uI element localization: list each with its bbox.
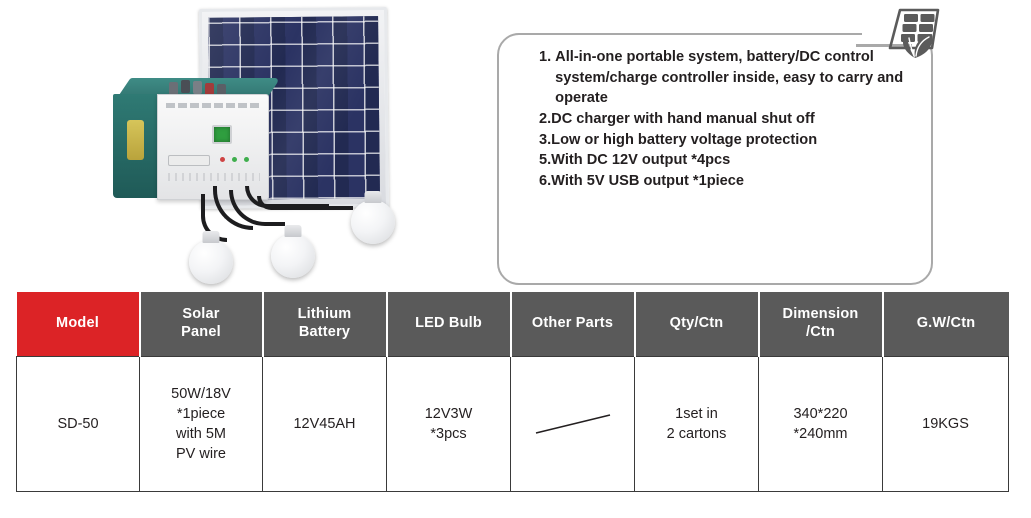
cell-qty-ctn: 1set in 2 cartons xyxy=(635,356,759,491)
led-bulb-2 xyxy=(271,234,315,278)
cell-other-parts xyxy=(511,356,635,491)
feature-item: 6. With 5V USB output *1piece xyxy=(539,171,917,192)
cell-model: SD-50 xyxy=(17,356,140,491)
solar-panel-leaf-icon xyxy=(882,4,948,60)
control-box-front-panel xyxy=(157,94,269,200)
table-body: SD-50 50W/18V *1piece with 5M PV wire 12… xyxy=(17,356,1009,491)
column-header-led-bulb: LED Bulb xyxy=(387,292,511,356)
diagonal-dash-icon xyxy=(530,411,616,437)
feature-number: 5. xyxy=(539,150,551,171)
cable-harness xyxy=(183,186,383,286)
column-header-other-parts: Other Parts xyxy=(511,292,635,356)
control-box-ports xyxy=(168,173,260,181)
table-header-row: Model Solar Panel Lithium Battery LED Bu… xyxy=(17,292,1009,356)
product-spec-page: 1. All-in-one portable system, battery/D… xyxy=(0,0,1031,518)
cell-solar-panel: 50W/18V *1piece with 5M PV wire xyxy=(140,356,263,491)
feature-list: 1. All-in-one portable system, battery/D… xyxy=(539,47,917,191)
table-row: SD-50 50W/18V *1piece with 5M PV wire 12… xyxy=(17,356,1009,491)
led-bulb-3 xyxy=(351,200,395,244)
column-header-gw-ctn: G.W/Ctn xyxy=(883,292,1009,356)
control-box-slot xyxy=(168,155,210,166)
feature-item: 1. All-in-one portable system, battery/D… xyxy=(539,47,917,109)
led-bulb-1 xyxy=(189,240,233,284)
feature-number: 1. xyxy=(539,47,551,109)
feature-text: DC charger with hand manual shut off xyxy=(551,109,917,130)
column-header-dimension-ctn: Dimension /Ctn xyxy=(759,292,883,356)
cell-dimension-ctn: 340*220 *240mm xyxy=(759,356,883,491)
table-header: Model Solar Panel Lithium Battery LED Bu… xyxy=(17,292,1009,356)
feature-number: 2. xyxy=(539,109,551,130)
feature-text: Low or high battery voltage protection xyxy=(551,130,917,151)
control-box-display xyxy=(212,125,232,144)
feature-text: With DC 12V output *4pcs xyxy=(551,150,917,171)
product-photo xyxy=(95,0,495,290)
control-box-side xyxy=(113,94,157,198)
feature-number: 3. xyxy=(539,130,551,151)
feature-number: 6. xyxy=(539,171,551,192)
control-box-brand-text xyxy=(166,103,260,108)
feature-item: 2. DC charger with hand manual shut off xyxy=(539,109,917,130)
specification-table: Model Solar Panel Lithium Battery LED Bu… xyxy=(16,292,1009,492)
column-header-model: Model xyxy=(17,292,140,356)
features-callout: 1. All-in-one portable system, battery/D… xyxy=(497,33,933,285)
cell-led-bulb: 12V3W *3pcs xyxy=(387,356,511,491)
column-header-qty-ctn: Qty/Ctn xyxy=(635,292,759,356)
feature-text: With 5V USB output *1piece xyxy=(551,171,917,192)
cell-lithium-battery: 12V45AH xyxy=(263,356,387,491)
feature-text: All-in-one portable system, battery/DC c… xyxy=(555,47,917,109)
control-box-indicator-green-2 xyxy=(244,157,249,162)
feature-item: 5. With DC 12V output *4pcs xyxy=(539,150,917,171)
control-box-indicator-green xyxy=(232,157,237,162)
column-header-solar-panel: Solar Panel xyxy=(140,292,263,356)
feature-item: 3. Low or high battery voltage protectio… xyxy=(539,130,917,151)
control-box-indicator-red xyxy=(220,157,225,162)
column-header-lithium-battery: Lithium Battery xyxy=(263,292,387,356)
cell-gw-ctn: 19KGS xyxy=(883,356,1009,491)
